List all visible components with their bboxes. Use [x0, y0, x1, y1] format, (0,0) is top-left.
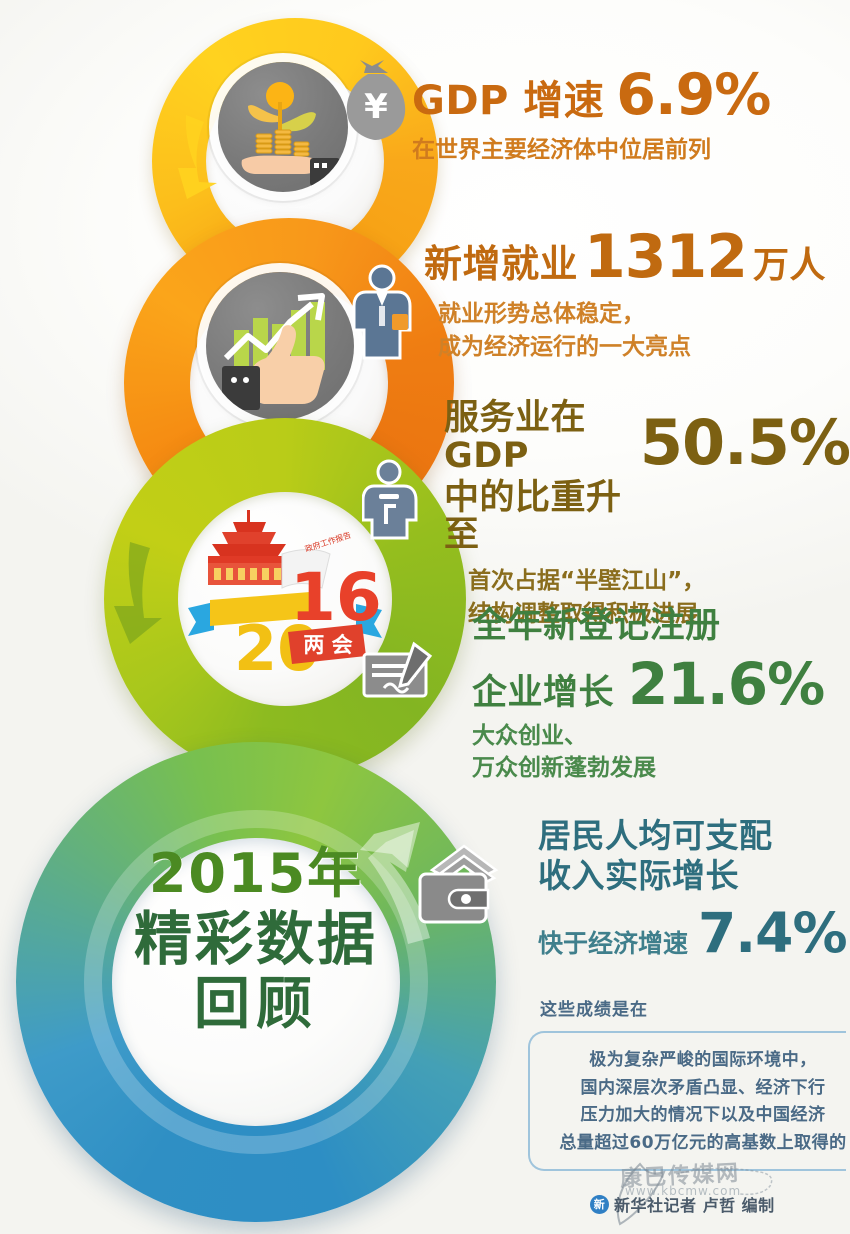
jobs-sub-line-2: 成为经济运行的一大亮点 — [438, 331, 826, 364]
block-new-jobs: 新增就业 1312 万人 就业形势总体稳定， 成为经济运行的一大亮点 — [424, 222, 826, 363]
note-body-line-2: 国内深层次矛盾凸显、经济下行 — [538, 1075, 850, 1103]
ent-sub-line-2: 万众创新蓬勃发展 — [472, 752, 824, 785]
thumbs-up-chart-icon — [206, 272, 354, 420]
businessman-icon — [352, 264, 414, 362]
note-body-line-3: 压力加大的情况下以及中国经济 — [538, 1102, 850, 1130]
income-headline-line1: 居民人均可支配 — [538, 818, 847, 854]
service-headline-line1: 服务业在GDP — [444, 400, 630, 476]
income-note: 快于经济增速 — [538, 926, 688, 962]
money-bag-yen-icon: ¥ — [342, 60, 412, 146]
report-label: 政府工作报告 — [304, 530, 353, 554]
wallet-house-icon — [408, 840, 500, 928]
jobs-value-suffix: 万人 — [753, 247, 826, 286]
center-title-line2: 精彩数据 — [112, 907, 400, 972]
xinhua-logo-icon: 新 — [590, 1195, 609, 1214]
block-new-enterprises: 全年新登记注册 企业增长 21.6% 大众创业、 万众创新蓬勃发展 — [472, 608, 824, 785]
note-body-line-4: 总量超过60万亿元的高基数上取得的 — [538, 1130, 850, 1158]
jobs-value: 1312 — [584, 222, 747, 292]
ent-value: 21.6% — [628, 650, 824, 718]
ent-sub-line-1: 大众创业、 — [472, 720, 824, 753]
ent-headline-line2: 企业增长 — [472, 675, 614, 713]
badge-lianghui-label: 两 会 — [303, 633, 352, 657]
infographic-canvas: ¥ — [0, 0, 850, 1234]
income-value: 7.4% — [698, 901, 847, 965]
badge-year-suffix: 16 — [290, 559, 382, 636]
center-title: 2015年 精彩数据 回顾 — [112, 846, 400, 1035]
hand-coins-plant-icon — [218, 62, 348, 192]
gdp-value: 6.9% — [616, 62, 770, 128]
center-title-line3: 回顾 — [112, 974, 400, 1036]
credit-line: 新 新华社记者 卢哲 编制 — [590, 1192, 775, 1216]
note-box: 极为复杂严峻的国际环境中， 国内深层次矛盾凸显、经济下行 压力加大的情况下以及中… — [528, 1031, 846, 1171]
center-title-line1: 2015年 — [112, 846, 400, 903]
income-headline-line2: 收入实际增长 — [538, 858, 847, 894]
service-value: 50.5% — [640, 406, 850, 479]
cheque-pen-icon — [362, 638, 440, 704]
gdp-sub-line-1: 在世界主要经济体中位居前列 — [412, 134, 770, 167]
badge-2016-lianghui: 政府工作报告 20 16 两 会 — [178, 492, 392, 706]
service-headline-line2: 中的比重升至 — [444, 480, 630, 556]
svg-text:¥: ¥ — [364, 87, 388, 127]
block-disposable-income: 居民人均可支配 收入实际增长 快于经济增速 7.4% — [538, 818, 847, 965]
jobs-headline-pre: 新增就业 — [424, 244, 578, 285]
note-body: 极为复杂严峻的国际环境中， 国内深层次矛盾凸显、经济下行 压力加大的情况下以及中… — [538, 1047, 850, 1157]
block-gdp-growth: GDP 增速 6.9% 在世界主要经济体中位居前列 — [412, 62, 770, 167]
block-service-share-gdp: 服务业在GDP 中的比重升至 50.5% 首次占据“半壁江山”， 结构调整取得积… — [444, 400, 850, 631]
note-title: 这些成绩是在 — [540, 995, 648, 1020]
gdp-headline-pre: GDP 增速 — [412, 80, 604, 123]
ent-headline-line1: 全年新登记注册 — [472, 608, 824, 646]
note-body-line-1: 极为复杂严峻的国际环境中， — [538, 1047, 850, 1075]
credit-text: 新华社记者 卢哲 编制 — [614, 1192, 775, 1216]
service-sub-line-1: 首次占据“半壁江山”， — [468, 565, 850, 598]
jobs-sub-line-1: 就业形势总体稳定， — [438, 298, 826, 331]
service-person-icon — [362, 458, 418, 540]
